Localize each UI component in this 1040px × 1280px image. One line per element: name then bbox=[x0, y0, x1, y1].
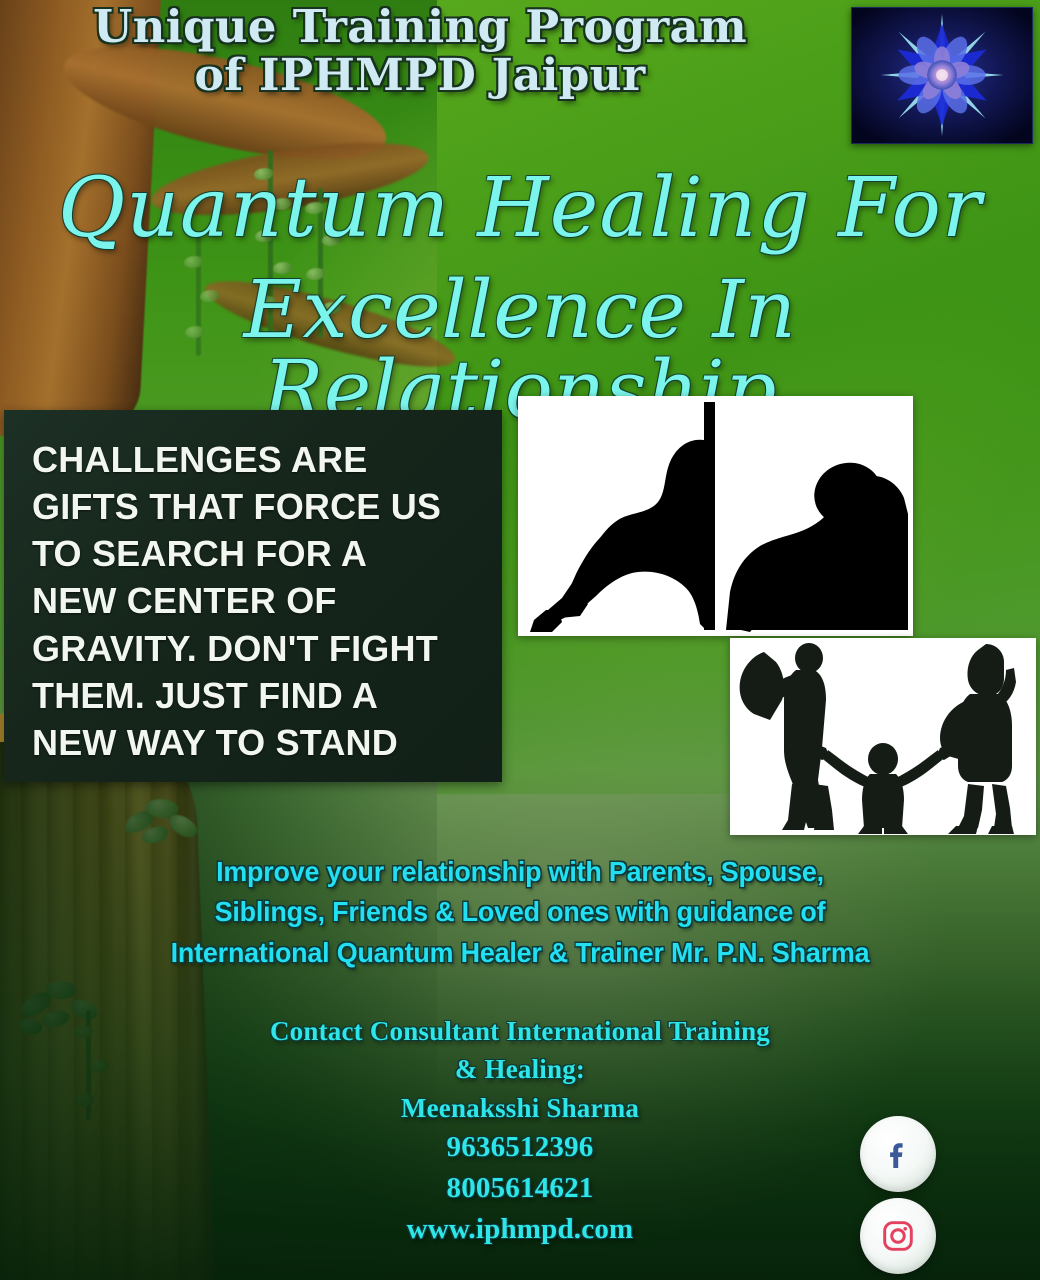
quote-line-3: TO SEARCH FOR A bbox=[32, 530, 484, 577]
social-links bbox=[860, 1116, 936, 1274]
contact-heading-1: Contact Consultant International Trainin… bbox=[0, 1012, 1040, 1050]
contact-heading-2: & Healing: bbox=[0, 1050, 1040, 1088]
instagram-icon bbox=[879, 1217, 917, 1255]
facebook-button[interactable] bbox=[860, 1116, 936, 1192]
separated-couple-image bbox=[518, 396, 913, 636]
quote-line-7: NEW WAY TO STAND bbox=[32, 719, 484, 766]
quote-line-5: GRAVITY. DON'T FIGHT bbox=[32, 625, 484, 672]
header-line-1: Unique Training Program bbox=[0, 4, 840, 50]
header-block: Unique Training Program of IPHMPD Jaipur bbox=[0, 4, 840, 99]
family-conflict-image bbox=[730, 638, 1036, 835]
main-title: Quantum Healing For Excellence In Relati… bbox=[0, 168, 1040, 430]
quote-line-4: NEW CENTER OF bbox=[32, 577, 484, 624]
body-line-3: International Quantum Healer & Trainer M… bbox=[21, 933, 1019, 973]
quote-line-1: CHALLENGES ARE bbox=[32, 436, 484, 483]
body-text-block: Improve your relationship with Parents, … bbox=[0, 852, 1040, 973]
title-line-1: Quantum Healing For bbox=[0, 168, 1040, 250]
facebook-icon bbox=[878, 1134, 918, 1174]
mandala-logo bbox=[851, 7, 1033, 144]
body-line-1: Improve your relationship with Parents, … bbox=[21, 852, 1019, 892]
quote-line-6: THEM. JUST FIND A bbox=[32, 672, 484, 719]
quote-line-2: GIFTS THAT FORCE US bbox=[32, 483, 484, 530]
poster-canvas: Unique Training Program of IPHMPD Jaipur bbox=[0, 0, 1040, 1280]
header-line-2: of IPHMPD Jaipur bbox=[0, 54, 840, 99]
body-line-2: Siblings, Friends & Loved ones with guid… bbox=[21, 892, 1019, 932]
quote-panel: CHALLENGES ARE GIFTS THAT FORCE US TO SE… bbox=[4, 410, 502, 782]
instagram-button[interactable] bbox=[860, 1198, 936, 1274]
